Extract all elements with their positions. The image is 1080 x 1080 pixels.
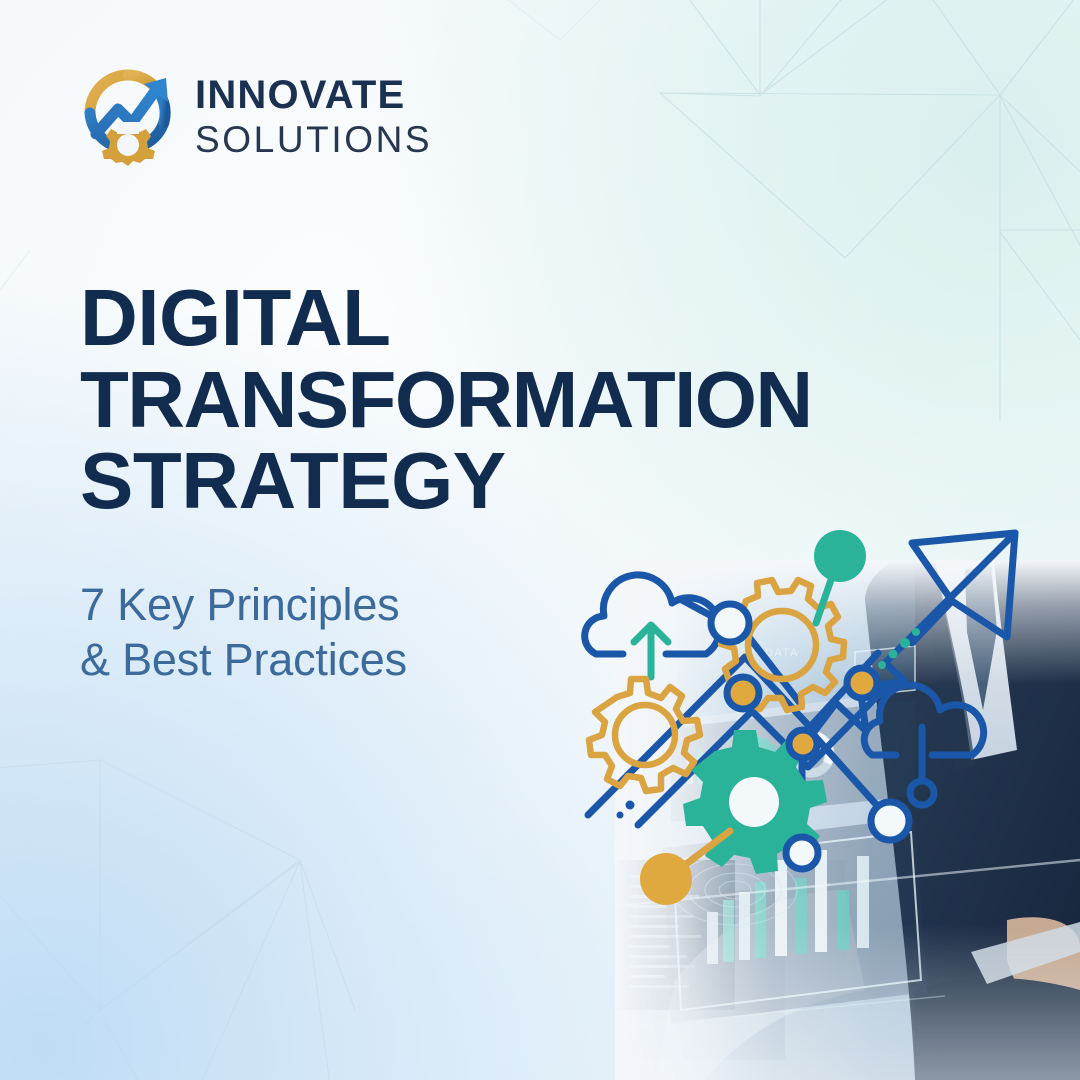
subtitle-line-1: 7 Key Principles xyxy=(80,578,640,633)
page-title: DIGITAL TRANSFORMATION STRATEGY xyxy=(80,277,940,522)
brand-logo[interactable]: INNOVATE SOLUTIONS xyxy=(78,62,432,168)
growth-arrow-gear-circle-logo-icon xyxy=(78,62,178,168)
digital-transformation-illustration xyxy=(560,515,1030,925)
brand-name: INNOVATE SOLUTIONS xyxy=(195,72,432,158)
headline-line-1: DIGITAL xyxy=(80,277,940,359)
brand-name-line1: INNOVATE xyxy=(195,75,432,115)
brand-name-line2: SOLUTIONS xyxy=(195,121,432,158)
headline-line-2: TRANSFORMATION xyxy=(80,359,940,441)
page-subtitle: 7 Key Principles & Best Practices xyxy=(80,578,640,688)
headline-line-3: STRATEGY xyxy=(80,440,940,522)
poster-canvas: DATA xyxy=(0,0,1080,1080)
subtitle-line-2: & Best Practices xyxy=(80,633,640,688)
